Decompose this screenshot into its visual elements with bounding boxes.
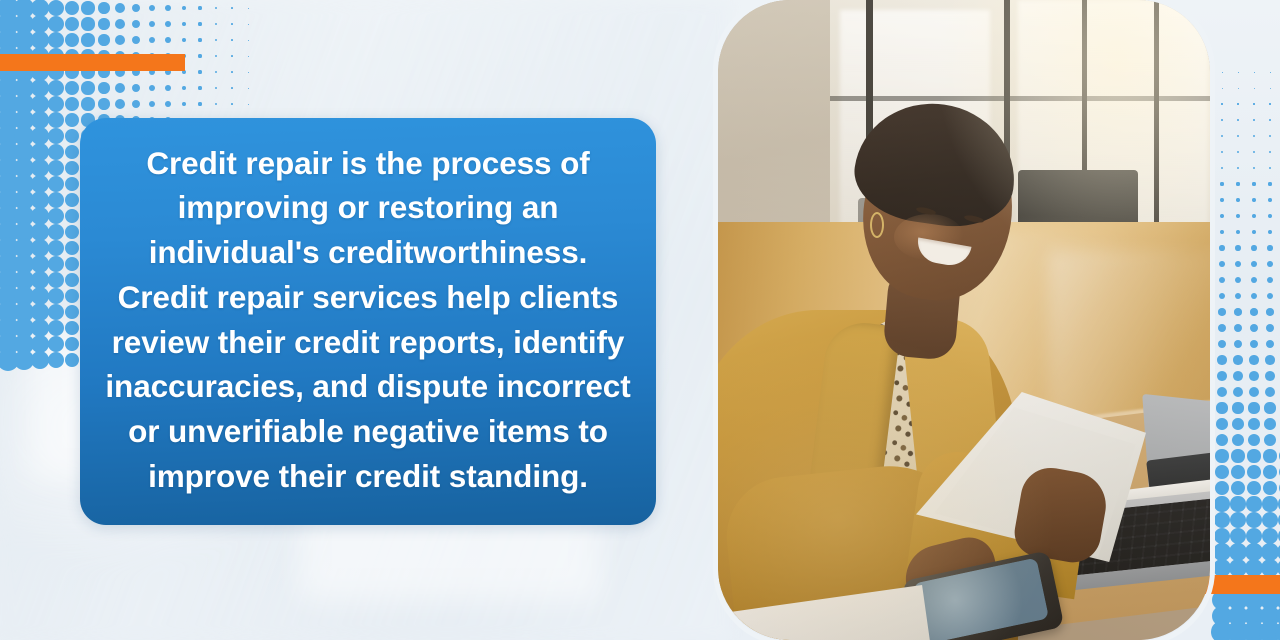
banner-canvas: Credit repair is the process of improvin… xyxy=(0,0,1280,640)
top-left-orange-rule xyxy=(0,54,185,71)
photo-person-earring xyxy=(870,212,884,238)
photo-window-mullion xyxy=(830,96,1210,101)
quote-card: Credit repair is the process of improvin… xyxy=(80,118,656,525)
quote-text: Credit repair is the process of improvin… xyxy=(102,141,634,499)
hero-photo xyxy=(718,0,1210,640)
hero-photo-artwork xyxy=(718,0,1210,640)
